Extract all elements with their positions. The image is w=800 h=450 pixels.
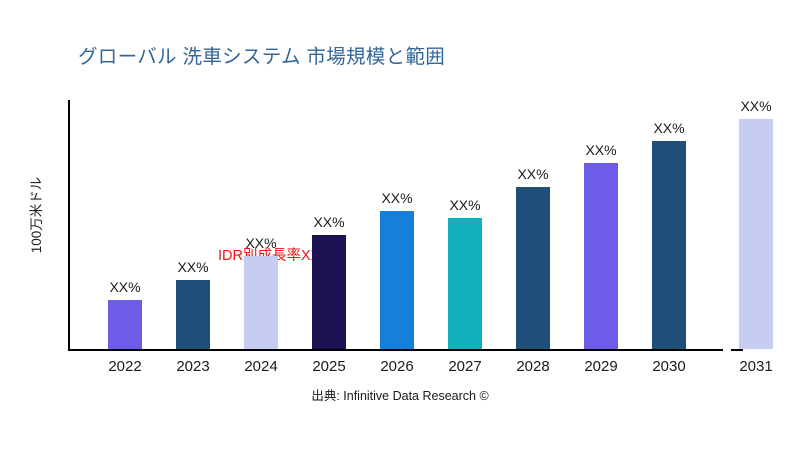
- bar-2029[interactable]: XX%: [584, 163, 618, 349]
- x-axis-tick-2025: 2025: [299, 358, 359, 375]
- x-axis-tick-2023: 2023: [163, 358, 223, 375]
- chart-container: グローバル 洗車システム 市場規模と範囲 100万米ドル IDR別成長率XX% …: [0, 0, 800, 450]
- bar-value-label: XX%: [585, 142, 616, 158]
- x-axis-tick-2022: 2022: [95, 358, 155, 375]
- bar-2024[interactable]: XX%: [244, 256, 278, 349]
- bar-2031[interactable]: XX%: [739, 119, 773, 349]
- x-axis-tick-2031: 2031: [726, 358, 786, 375]
- bar-2022[interactable]: XX%: [108, 300, 142, 349]
- bar-value-label: XX%: [177, 259, 208, 275]
- bar-value-label: XX%: [245, 235, 276, 251]
- bar-2025[interactable]: XX%: [312, 235, 346, 349]
- bar-2030[interactable]: XX%: [652, 141, 686, 349]
- x-axis-tick-2029: 2029: [571, 358, 631, 375]
- bar-value-label: XX%: [740, 98, 771, 114]
- x-axis-tick-2027: 2027: [435, 358, 495, 375]
- bar-value-label: XX%: [449, 197, 480, 213]
- y-axis-line: [68, 100, 70, 350]
- bar-2027[interactable]: XX%: [448, 218, 482, 349]
- y-axis-label-wrapper: 100万米ドル: [22, 140, 48, 290]
- bar-value-label: XX%: [109, 279, 140, 295]
- source-caption: 出典: Infinitive Data Research ©: [0, 385, 800, 404]
- bar-value-label: XX%: [517, 166, 548, 182]
- bar-2023[interactable]: XX%: [176, 280, 210, 349]
- x-axis-line-tail: [731, 349, 743, 351]
- y-axis-label: 100万米ドル: [25, 177, 45, 254]
- x-axis-line: [68, 349, 723, 351]
- bar-2028[interactable]: XX%: [516, 187, 550, 349]
- bar-2026[interactable]: XX%: [380, 211, 414, 349]
- x-axis-tick-2028: 2028: [503, 358, 563, 375]
- x-axis-tick-2030: 2030: [639, 358, 699, 375]
- x-axis-tick-2026: 2026: [367, 358, 427, 375]
- page-title: グローバル 洗車システム 市場規模と範囲: [78, 40, 445, 69]
- bar-value-label: XX%: [381, 190, 412, 206]
- bar-value-label: XX%: [653, 120, 684, 136]
- bar-value-label: XX%: [313, 214, 344, 230]
- x-axis-tick-2024: 2024: [231, 358, 291, 375]
- plot-area: IDR別成長率XX% XX%XX%XX%XX%XX%XX%XX%XX%XX%XX…: [68, 100, 780, 350]
